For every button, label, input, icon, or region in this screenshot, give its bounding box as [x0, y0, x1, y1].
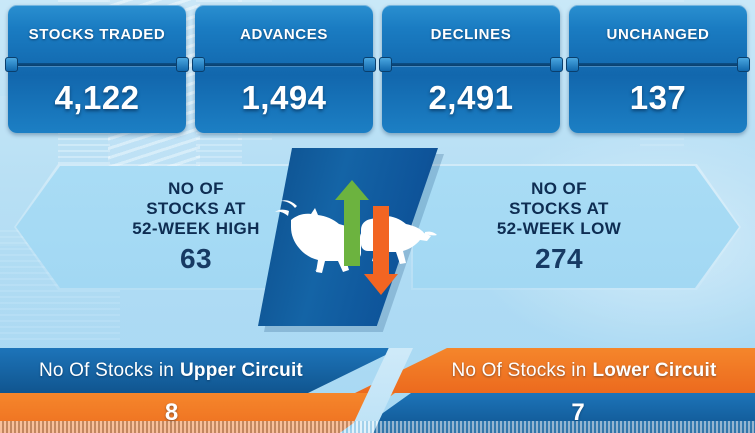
divider-tab-left-icon	[192, 57, 205, 72]
divider-tab-right-icon	[550, 57, 563, 72]
divider-tab-left-icon	[5, 57, 18, 72]
infographic-root: STOCKS TRADED 4,122 ADVANCES 1,494	[0, 0, 755, 433]
card-divider	[197, 63, 371, 66]
upper-circuit-emphasis: Upper Circuit	[180, 360, 303, 382]
banner-value: 274	[497, 242, 621, 275]
stat-card-declines[interactable]: DECLINES 2,491	[382, 5, 560, 133]
divider-tab-right-icon	[737, 57, 750, 72]
divider-tab-left-icon	[379, 57, 392, 72]
banner-text: NO OF STOCKS AT 52-WEEK LOW 274	[497, 179, 655, 275]
banner-text: NO OF STOCKS AT 52-WEEK HIGH 63	[98, 179, 260, 275]
stat-card-body: 4,122	[8, 66, 186, 130]
stat-card-header: DECLINES	[382, 5, 560, 63]
banner-52-week-low[interactable]: NO OF STOCKS AT 52-WEEK LOW 274	[411, 164, 741, 290]
banner-line-1: NO OF	[132, 179, 260, 199]
card-divider	[10, 63, 184, 66]
banner-value: 63	[132, 242, 260, 275]
lower-circuit-header[interactable]: No Of Stocks in Lower Circuit	[355, 348, 755, 393]
banner-line-2: STOCKS AT	[497, 199, 621, 219]
stat-card-value: 1,494	[241, 79, 326, 117]
mid-section: NO OF STOCKS AT 52-WEEK HIGH 63 NO OF ST…	[0, 140, 755, 340]
stat-card-body: 137	[569, 66, 747, 130]
upper-circuit-lead: No Of Stocks in	[39, 360, 174, 382]
lower-circuit-emphasis: Lower Circuit	[592, 360, 716, 382]
stat-card-header: ADVANCES	[195, 5, 373, 63]
stat-card-stocks-traded[interactable]: STOCKS TRADED 4,122	[8, 5, 186, 133]
stat-card-label: DECLINES	[431, 26, 512, 44]
stat-card-header: UNCHANGED	[569, 5, 747, 63]
stat-card-value: 2,491	[428, 79, 513, 117]
card-divider	[384, 63, 558, 66]
stat-card-advances[interactable]: ADVANCES 1,494	[195, 5, 373, 133]
lower-circuit-lead: No Of Stocks in	[451, 360, 586, 382]
stat-card-body: 2,491	[382, 66, 560, 130]
banner-line-1: NO OF	[497, 179, 621, 199]
upper-circuit-header[interactable]: No Of Stocks in Upper Circuit	[0, 348, 400, 393]
stat-card-label: UNCHANGED	[607, 26, 710, 44]
banner-line-3: 52-WEEK LOW	[497, 219, 621, 239]
bear-icon	[361, 216, 437, 275]
upper-circuit-label: No Of Stocks in Upper Circuit	[0, 348, 400, 393]
divider-tab-right-icon	[363, 57, 376, 72]
stat-card-header: STOCKS TRADED	[8, 5, 186, 63]
stat-card-label: STOCKS TRADED	[29, 26, 166, 44]
stat-card-unchanged[interactable]: UNCHANGED 137	[569, 5, 747, 133]
lower-circuit-label: No Of Stocks in Lower Circuit	[355, 348, 755, 393]
divider-tab-left-icon	[566, 57, 579, 72]
stat-card-body: 1,494	[195, 66, 373, 130]
bottom-edge-strip	[0, 421, 755, 433]
stat-card-label: ADVANCES	[240, 26, 328, 44]
banner-line-3: 52-WEEK HIGH	[132, 219, 260, 239]
bull-bear-logo	[258, 148, 438, 326]
stat-card-value: 4,122	[54, 79, 139, 117]
divider-tab-right-icon	[176, 57, 189, 72]
stat-card-value: 137	[630, 79, 687, 117]
card-divider	[571, 63, 745, 66]
stat-cards: STOCKS TRADED 4,122 ADVANCES 1,494	[8, 5, 747, 133]
banner-line-2: STOCKS AT	[132, 199, 260, 219]
